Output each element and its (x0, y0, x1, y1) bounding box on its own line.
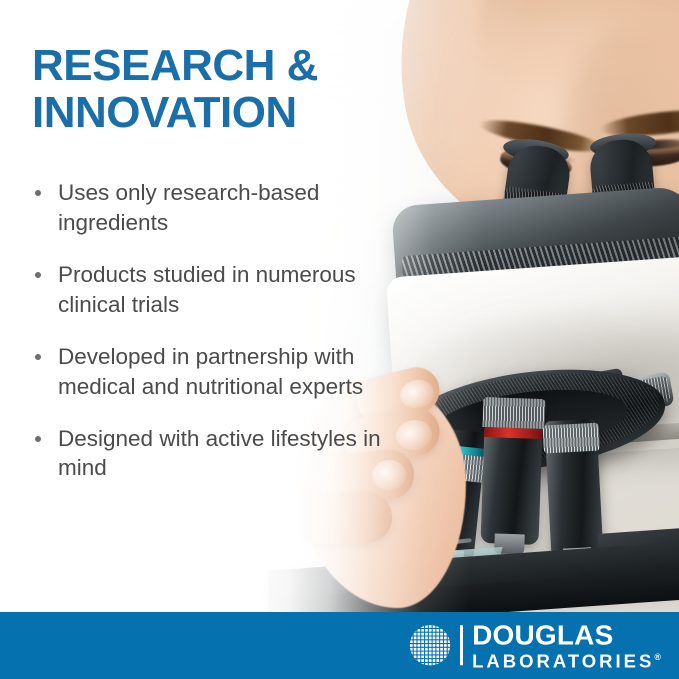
brand-banner: DOUGLAS LABORATORIES® (0, 612, 679, 679)
list-item-label: Designed with active lifestyles in mind (58, 426, 381, 481)
marketing-poster: RESEARCH & INNOVATION Uses only research… (0, 0, 679, 679)
brand-logo: DOUGLAS LABORATORIES® (409, 621, 661, 671)
list-item: Uses only research-based ingredients (32, 178, 392, 238)
registered-trademark-icon: ® (654, 652, 661, 662)
headline-line-2: INNOVATION (32, 88, 297, 137)
list-item-label: Developed in partnership with medical an… (58, 344, 363, 399)
logo-name-primary: DOUGLAS (472, 621, 661, 649)
list-item: Developed in partnership with medical an… (32, 342, 392, 402)
logo-name-secondary-text: LABORATORIES (472, 650, 654, 671)
headline-line-1: RESEARCH & (32, 41, 318, 90)
grid-sphere-icon (409, 625, 451, 667)
page-title: RESEARCH & INNOVATION (32, 42, 432, 136)
list-item: Designed with active lifestyles in mind (32, 424, 392, 484)
logo-name-secondary: LABORATORIES® (472, 652, 661, 671)
logo-divider (460, 626, 463, 666)
logo-wordmark: DOUGLAS LABORATORIES® (472, 621, 661, 671)
text-content: RESEARCH & INNOVATION Uses only research… (0, 0, 679, 625)
list-item-label: Uses only research-based ingredients (58, 180, 319, 235)
list-item: Products studied in numerous clinical tr… (32, 260, 392, 320)
list-item-label: Products studied in numerous clinical tr… (58, 262, 356, 317)
benefits-list: Uses only research-based ingredients Pro… (32, 178, 392, 505)
